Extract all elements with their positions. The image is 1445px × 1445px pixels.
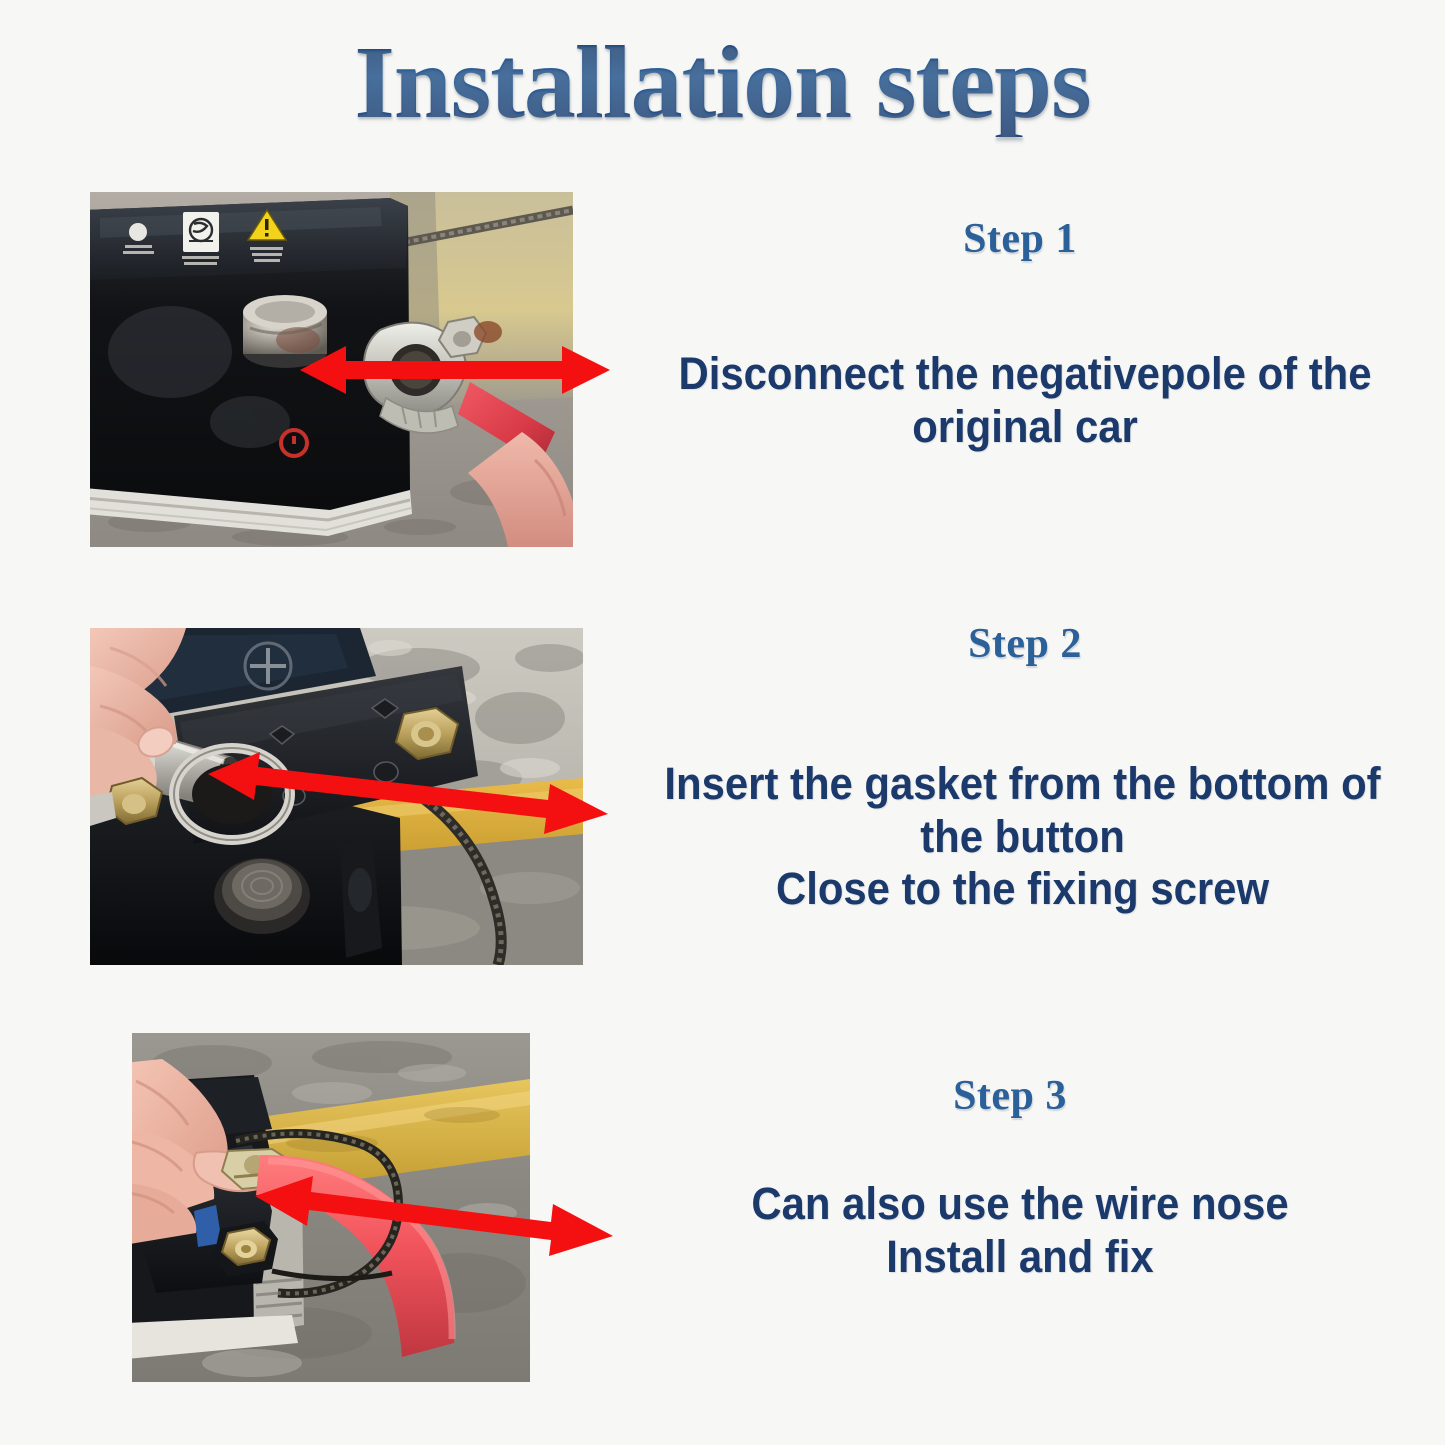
page-title: Installation steps xyxy=(0,28,1445,137)
step-3-heading: Step 3 xyxy=(830,1072,1190,1120)
step-2-line-1: Insert the gasket from the bottom of xyxy=(630,758,1416,811)
step-3-scene xyxy=(132,1033,530,1382)
step-3-body: Can also use the wire nose Install and f… xyxy=(667,1178,1374,1283)
step-1-scene xyxy=(90,192,573,547)
step-3-line-2: Install and fix xyxy=(667,1231,1374,1284)
step-3-photo xyxy=(132,1033,530,1382)
installation-steps-page: Installation steps xyxy=(0,0,1445,1445)
step-1-line-1: Disconnect the negativepole of the xyxy=(634,348,1415,401)
step-2-body: Insert the gasket from the bottom of the… xyxy=(630,758,1416,916)
step-2-line-3: Close to the fixing screw xyxy=(630,863,1416,916)
step-3-image xyxy=(132,1033,530,1382)
step-2-image xyxy=(90,628,583,965)
step-2-line-2: the button xyxy=(630,811,1416,864)
step-1-line-2: original car xyxy=(634,401,1415,454)
step-1-heading: Step 1 xyxy=(840,215,1200,263)
step-2-scene xyxy=(90,628,583,965)
step-2-heading: Step 2 xyxy=(845,620,1205,668)
step-1-image xyxy=(90,192,573,547)
step-1-body: Disconnect the negativepole of the origi… xyxy=(634,348,1415,453)
step-1-photo xyxy=(90,192,573,547)
step-3-line-1: Can also use the wire nose xyxy=(667,1178,1374,1231)
step-2-photo xyxy=(90,628,583,965)
